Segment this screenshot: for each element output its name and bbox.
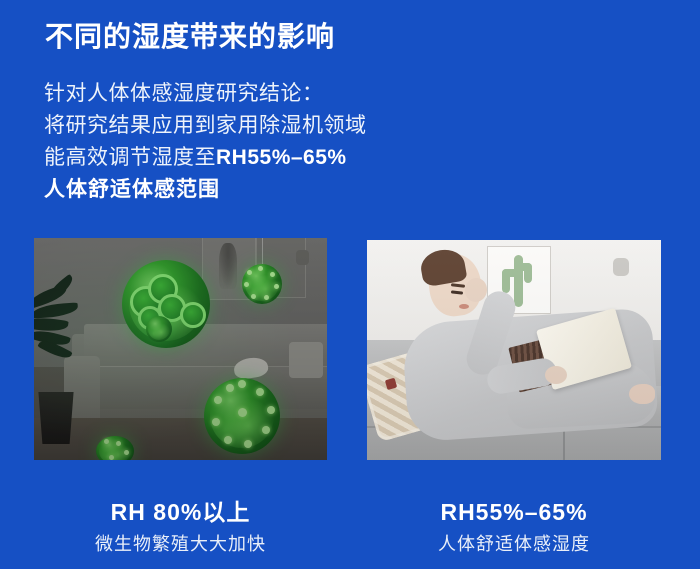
body-line-3-highlight: RH55%–65% <box>216 146 347 169</box>
dim-living-room-scene <box>34 238 327 460</box>
wall-knob <box>613 258 629 276</box>
photo-panel-left <box>34 238 327 460</box>
woman-hand-on-book <box>545 366 567 384</box>
lips <box>459 304 469 309</box>
body-line-4: 人体舒适体感范围 <box>44 174 367 206</box>
caption-left: RH 80%以上 微生物繁殖大大加快 <box>34 498 327 558</box>
photo-panel-right <box>367 240 661 460</box>
caption-right: RH55%–65% 人体舒适体感湿度 <box>367 498 661 558</box>
body-copy: 针对人体体感湿度研究结论： 将研究结果应用到家用除湿机领域 能高效调节湿度至RH… <box>44 78 367 206</box>
body-line-1: 针对人体体感湿度研究结论： <box>44 78 367 110</box>
germ-small-d <box>146 316 172 342</box>
woman-foot <box>629 384 655 404</box>
caption-left-main: RH 80%以上 <box>34 498 327 526</box>
bright-living-room-scene <box>367 240 661 460</box>
germ-small-a <box>242 264 282 304</box>
house-plant <box>34 286 100 378</box>
wall-knob <box>296 250 309 265</box>
plant-pot <box>36 392 76 444</box>
germ-small-c <box>96 436 134 460</box>
body-line-2: 将研究结果应用到家用除湿机领域 <box>44 110 367 142</box>
hanging-thread <box>262 238 263 264</box>
caption-right-main: RH55%–65% <box>367 498 661 526</box>
caption-right-sub: 人体舒适体感湿度 <box>367 530 661 558</box>
body-line-3: 能高效调节湿度至RH55%–65% <box>44 142 367 174</box>
floor <box>34 418 327 460</box>
sofa-pillow <box>289 342 323 378</box>
caption-left-sub: 微生物繁殖大大加快 <box>34 530 327 558</box>
germ-small-b <box>204 378 280 454</box>
body-line-3-prefix: 能高效调节湿度至 <box>44 146 216 169</box>
humidity-infographic-page: 不同的湿度带来的影响 针对人体体感湿度研究结论： 将研究结果应用到家用除湿机领域… <box>0 0 700 569</box>
page-title: 不同的湿度带来的影响 <box>45 18 335 56</box>
